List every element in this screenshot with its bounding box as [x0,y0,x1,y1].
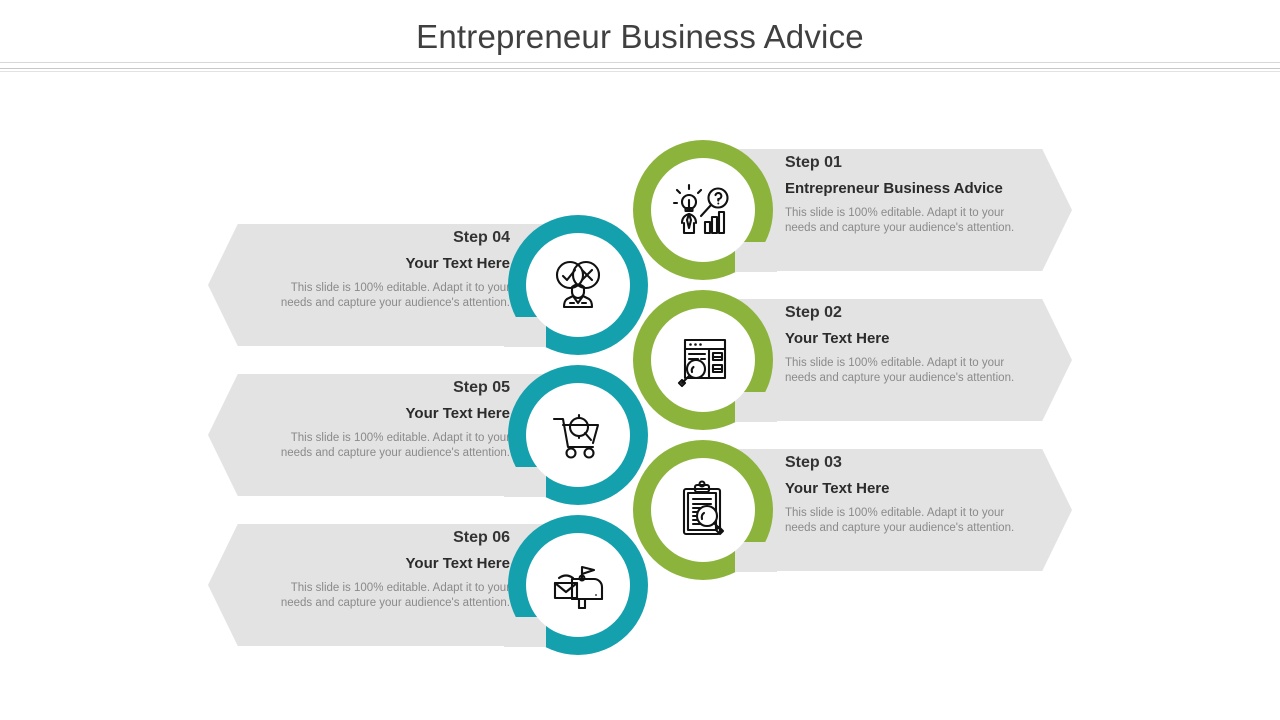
step-ring-tail-06 [504,617,546,647]
step-heading-03: Your Text Here [785,481,889,497]
step-desc-02: This slide is 100% editable. Adapt it to… [785,356,1035,387]
step-heading-06: Your Text Here [406,556,510,572]
page-title: Entrepreneur Business Advice [416,20,864,53]
step-row-03: Step 03 Your Text Here This slide is 100… [0,435,1280,585]
person-decision-check-cross-icon [546,253,610,317]
step-node-02[interactable] [633,290,773,430]
step-text-03: Step 03 Your Text Here This slide is 100… [785,435,1055,557]
step-text-02: Step 02 Your Text Here This slide is 100… [785,285,1055,407]
slide: Entrepreneur Business Advice Step 04 You… [0,0,1280,720]
step-icon-holder-05 [526,383,630,487]
step-desc-05: This slide is 100% editable. Adapt it to… [268,431,510,462]
step-ring-tail-03 [735,542,777,572]
step-text-04: Step 04 Your Text Here This slide is 100… [225,210,510,332]
step-node-04[interactable] [508,215,648,355]
shopping-cart-search-icon [546,403,610,467]
step-desc-04: This slide is 100% editable. Adapt it to… [268,281,510,312]
step-desc-06: This slide is 100% editable. Adapt it to… [268,581,510,612]
step-icon-holder-06 [526,533,630,637]
step-label-04: Step 04 [453,230,510,247]
step-heading-02: Your Text Here [785,331,889,347]
header-divider-middle [0,68,1280,69]
step-ring-tail-05 [504,467,546,497]
step-row-02: Step 02 Your Text Here This slide is 100… [0,285,1280,435]
step-icon-holder-03 [651,458,755,562]
mailbox-envelope-icon [546,553,610,617]
step-ring-tail-04 [504,317,546,347]
step-text-06: Step 06 Your Text Here This slide is 100… [225,510,510,632]
step-label-03: Step 03 [785,455,842,472]
step-node-06[interactable] [508,515,648,655]
step-icon-holder-01 [651,158,755,262]
step-ring-tail-02 [735,392,777,422]
step-node-05[interactable] [508,365,648,505]
idea-research-chart-icon [671,178,735,242]
step-icon-holder-02 [651,308,755,412]
step-row-01: Step 01 Entrepreneur Business Advice Thi… [0,135,1280,285]
step-text-05: Step 05 Your Text Here This slide is 100… [225,360,510,482]
step-desc-03: This slide is 100% editable. Adapt it to… [785,506,1035,537]
step-node-03[interactable] [633,440,773,580]
step-label-01: Step 01 [785,155,842,172]
step-heading-01: Entrepreneur Business Advice [785,181,1003,197]
clipboard-search-icon [671,478,735,542]
step-text-01: Step 01 Entrepreneur Business Advice Thi… [785,135,1055,257]
step-heading-04: Your Text Here [406,256,510,272]
step-heading-05: Your Text Here [406,406,510,422]
header-divider-top [0,62,1280,63]
web-page-search-icon [671,328,735,392]
steps-diagram: Step 04 Your Text Here This slide is 100… [0,72,1280,720]
step-icon-holder-04 [526,233,630,337]
step-desc-01: This slide is 100% editable. Adapt it to… [785,206,1035,237]
step-label-05: Step 05 [453,380,510,397]
step-label-06: Step 06 [453,530,510,547]
step-label-02: Step 02 [785,305,842,322]
step-node-01[interactable] [633,140,773,280]
step-ring-tail-01 [735,242,777,272]
